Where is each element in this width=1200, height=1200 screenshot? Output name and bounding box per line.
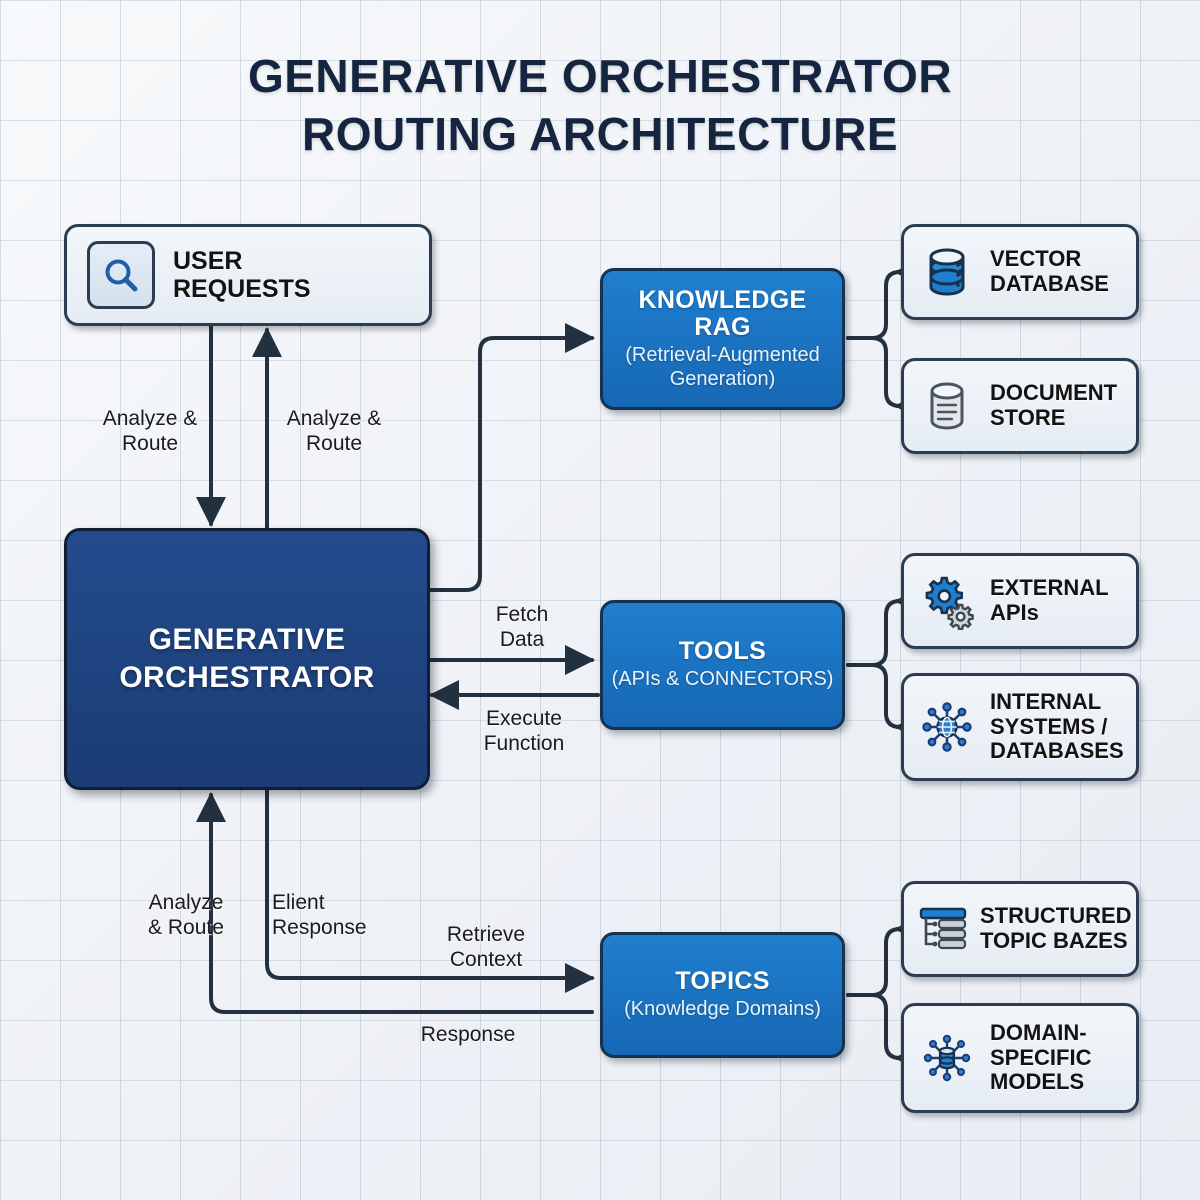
hierarchy-list-icon <box>914 900 972 958</box>
node-domain-specific-models[interactable]: DOMAIN- SPECIFIC MODELS <box>901 1003 1139 1113</box>
node-domain-specific-models-label: DOMAIN- SPECIFIC MODELS <box>990 1021 1091 1095</box>
node-external-apis[interactable]: EXTERNAL APIs <box>901 553 1139 649</box>
node-knowledge-rag[interactable]: KNOWLEDGE RAG (Retrieval-Augmented Gener… <box>600 268 845 410</box>
orchestrator-line-1: GENERATIVE <box>119 621 374 659</box>
edge-tools-to-internal-systems <box>848 665 900 727</box>
tools-subtitle: (APIs & CONNECTORS) <box>612 668 834 691</box>
node-document-store-label: DOCUMENT STORE <box>990 381 1117 430</box>
edge-orchestrator-to-rag <box>430 338 592 590</box>
node-generative-orchestrator-label: GENERATIVE ORCHESTRATOR <box>119 621 374 698</box>
topics-title: TOPICS <box>675 968 769 995</box>
knowledge-rag-title-line-2: RAG <box>639 314 807 341</box>
knowledge-rag-title: KNOWLEDGE RAG <box>639 287 807 341</box>
edge-label-client-response: Elient Response <box>272 890 404 940</box>
network-stack-icon <box>918 1029 976 1087</box>
edge-tools-to-external-apis <box>848 601 900 665</box>
node-external-apis-label: EXTERNAL APIs <box>990 576 1109 625</box>
edge-label-analyze-route-bottom: Analyze & Route <box>118 890 254 940</box>
edge-rag-to-vector-database <box>848 272 900 338</box>
node-structured-topic-bazes[interactable]: STRUCTURED TOPIC BAZES <box>901 881 1139 977</box>
orchestrator-line-2: ORCHESTRATOR <box>119 659 374 697</box>
node-document-store[interactable]: DOCUMENT STORE <box>901 358 1139 454</box>
node-vector-database-label: VECTOR DATABASE <box>990 247 1109 296</box>
page-title-line-1: GENERATIVE ORCHESTRATOR <box>0 48 1200 106</box>
page-title-line-2: ROUTING ARCHITECTURE <box>0 106 1200 164</box>
node-user-requests[interactable]: USER REQUESTS <box>64 224 432 326</box>
page-title: GENERATIVE ORCHESTRATOR ROUTING ARCHITEC… <box>0 48 1200 164</box>
edge-label-execute-function: Execute Function <box>454 706 594 756</box>
user-requests-line-1: USER <box>173 247 311 275</box>
node-generative-orchestrator[interactable]: GENERATIVE ORCHESTRATOR <box>64 528 430 790</box>
magnifier-icon <box>87 241 155 309</box>
database-cylinder-blue-icon <box>918 243 976 301</box>
edge-label-retrieve-context: Retrieve Context <box>418 922 554 972</box>
gears-icon <box>918 572 976 630</box>
node-tools[interactable]: TOOLS (APIs & CONNECTORS) <box>600 600 845 730</box>
node-structured-topic-bazes-label: STRUCTURED TOPIC BAZES <box>980 904 1132 953</box>
knowledge-rag-subtitle: (Retrieval-Augmented Generation) <box>603 344 842 390</box>
node-internal-systems[interactable]: INTERNAL SYSTEMS / DATABASES <box>901 673 1139 781</box>
topics-subtitle: (Knowledge Domains) <box>624 998 821 1021</box>
node-topics[interactable]: TOPICS (Knowledge Domains) <box>600 932 845 1058</box>
diagram-canvas: GENERATIVE ORCHESTRATOR ROUTING ARCHITEC… <box>0 0 1200 1200</box>
document-cylinder-icon <box>918 377 976 435</box>
node-user-requests-label: USER REQUESTS <box>173 247 311 303</box>
edge-rag-to-document-store <box>848 338 900 406</box>
edge-label-analyze-route-down: Analyze & Route <box>88 406 212 456</box>
edge-label-response: Response <box>398 1022 538 1047</box>
edge-label-analyze-route-up: Analyze & Route <box>272 406 396 456</box>
tools-title: TOOLS <box>679 638 766 665</box>
node-internal-systems-label: INTERNAL SYSTEMS / DATABASES <box>990 690 1124 764</box>
edge-topics-to-structured-topic-bazes <box>848 929 900 995</box>
network-globe-icon <box>918 698 976 756</box>
knowledge-rag-title-line-1: KNOWLEDGE <box>639 287 807 314</box>
edge-topics-to-domain-specific-models <box>848 995 900 1058</box>
node-vector-database[interactable]: VECTOR DATABASE <box>901 224 1139 320</box>
user-requests-line-2: REQUESTS <box>173 275 311 303</box>
edge-label-fetch-data: Fetch Data <box>462 602 582 652</box>
